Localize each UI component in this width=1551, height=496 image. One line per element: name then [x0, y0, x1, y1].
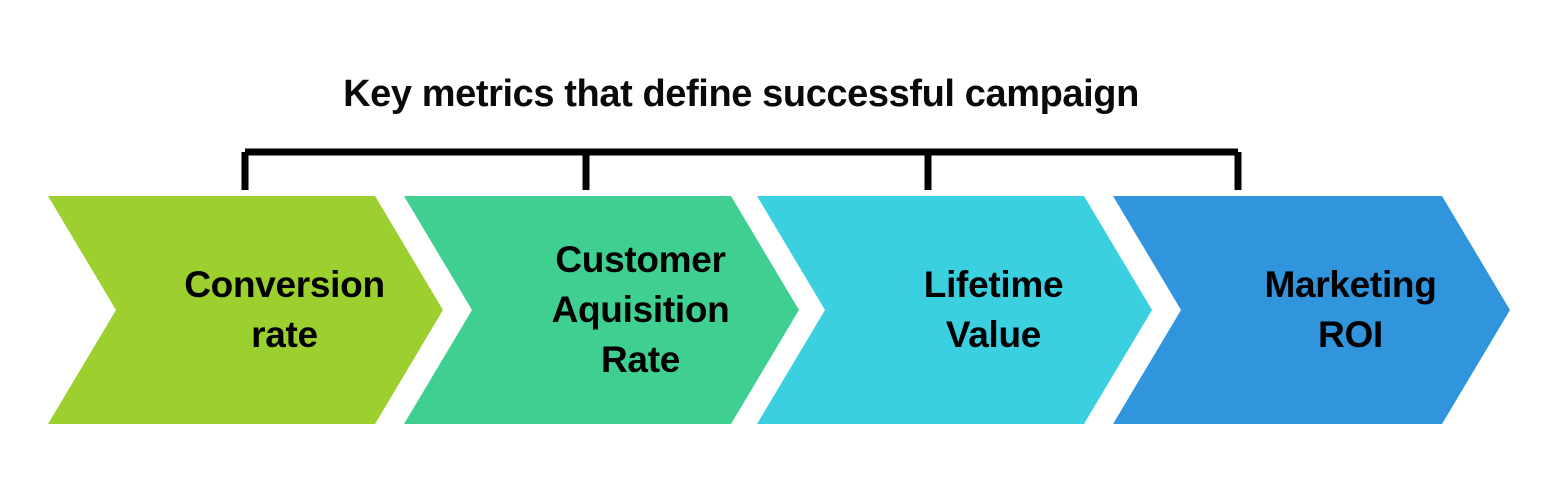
chevron-step-marketing-roi[interactable]: MarketingROI	[1113, 196, 1510, 424]
chevron-fill	[757, 196, 1152, 424]
chevron-shape-conversion-rate	[48, 196, 443, 424]
chevron-fill	[404, 196, 799, 424]
chevron-step-lifetime-value[interactable]: LifetimeValue	[757, 196, 1152, 424]
chevron-shape-customer-aquisition-rate	[404, 196, 799, 424]
chevron-shape-marketing-roi	[1113, 196, 1510, 424]
diagram-canvas: Key metrics that define successful campa…	[0, 0, 1551, 496]
chevron-flow: ConversionrateCustomerAquisitionRateLife…	[0, 0, 1551, 496]
chevron-shape-lifetime-value	[757, 196, 1152, 424]
chevron-step-customer-aquisition-rate[interactable]: CustomerAquisitionRate	[404, 196, 799, 424]
chevron-step-conversion-rate[interactable]: Conversionrate	[48, 196, 443, 424]
chevron-fill	[48, 196, 443, 424]
chevron-fill	[1113, 196, 1510, 424]
